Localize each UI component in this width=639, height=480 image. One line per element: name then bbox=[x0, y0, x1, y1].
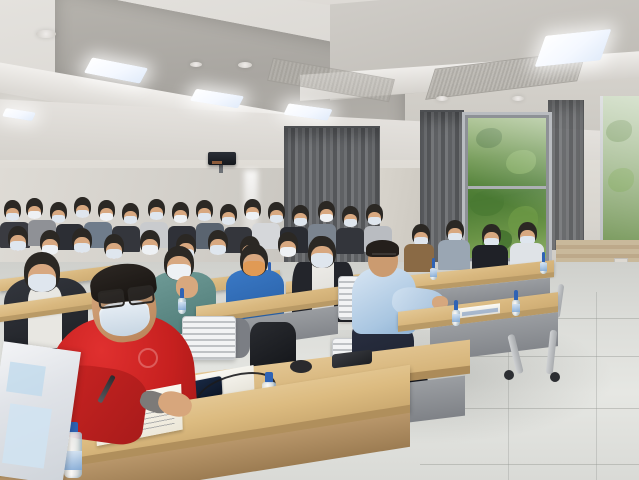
face-mask bbox=[74, 243, 90, 253]
bottle-label bbox=[540, 263, 547, 270]
ceiling-spot-icon bbox=[512, 96, 524, 101]
face-mask bbox=[368, 217, 381, 225]
face-mask bbox=[320, 214, 333, 222]
person-body bbox=[438, 240, 470, 270]
carton-label bbox=[2, 403, 52, 468]
water-bottle[interactable] bbox=[512, 290, 520, 316]
water-bottle[interactable] bbox=[452, 300, 460, 326]
person-body bbox=[336, 228, 364, 254]
face-mask bbox=[106, 249, 122, 259]
ceiling-spot-icon bbox=[238, 62, 252, 68]
window-right-glare bbox=[600, 96, 639, 246]
speaker-indicator bbox=[212, 161, 222, 164]
window-mullion bbox=[468, 186, 546, 189]
face-mask bbox=[246, 212, 259, 220]
face-mask bbox=[150, 212, 163, 220]
mouse-device[interactable] bbox=[290, 360, 312, 373]
glasses-icon bbox=[372, 253, 396, 262]
ceiling-smoke-detector-icon bbox=[36, 30, 56, 38]
face-mask bbox=[142, 245, 158, 255]
classroom-photo: Classroom training session with masked s… bbox=[0, 0, 639, 480]
face-mask bbox=[100, 213, 113, 221]
bottle-label bbox=[512, 304, 520, 313]
ceiling-spot-icon bbox=[190, 62, 202, 67]
bottle-label bbox=[64, 451, 82, 470]
face-mask bbox=[210, 245, 226, 255]
face-mask bbox=[76, 210, 89, 218]
bottle-label bbox=[178, 302, 186, 311]
face-mask bbox=[198, 213, 211, 221]
face-mask bbox=[280, 247, 296, 257]
water-bottle[interactable] bbox=[540, 252, 547, 274]
speaker-mount bbox=[219, 164, 223, 173]
bottle-label bbox=[452, 314, 460, 323]
face-mask bbox=[311, 253, 333, 268]
curtain-panel[interactable] bbox=[548, 100, 584, 250]
face-mask bbox=[344, 219, 357, 227]
ceiling-spot-icon bbox=[436, 96, 448, 101]
jacket-logo bbox=[138, 348, 158, 368]
desk-castor bbox=[550, 372, 560, 382]
face-mask bbox=[6, 213, 19, 221]
water-bottle[interactable] bbox=[178, 288, 186, 314]
face-mask bbox=[174, 215, 187, 223]
water-bottle[interactable] bbox=[430, 258, 437, 280]
face-mask-orange bbox=[243, 261, 265, 276]
face-mask bbox=[28, 211, 41, 219]
face-mask bbox=[28, 274, 56, 292]
bottle-label bbox=[430, 269, 437, 276]
face-mask bbox=[270, 215, 283, 223]
desk-castor bbox=[504, 370, 514, 380]
face-mask bbox=[222, 217, 235, 225]
face-mask bbox=[124, 216, 137, 224]
floor-tile-seam bbox=[420, 464, 639, 465]
face-mask bbox=[10, 241, 26, 251]
carton-label bbox=[6, 362, 46, 397]
face-mask bbox=[294, 218, 307, 226]
